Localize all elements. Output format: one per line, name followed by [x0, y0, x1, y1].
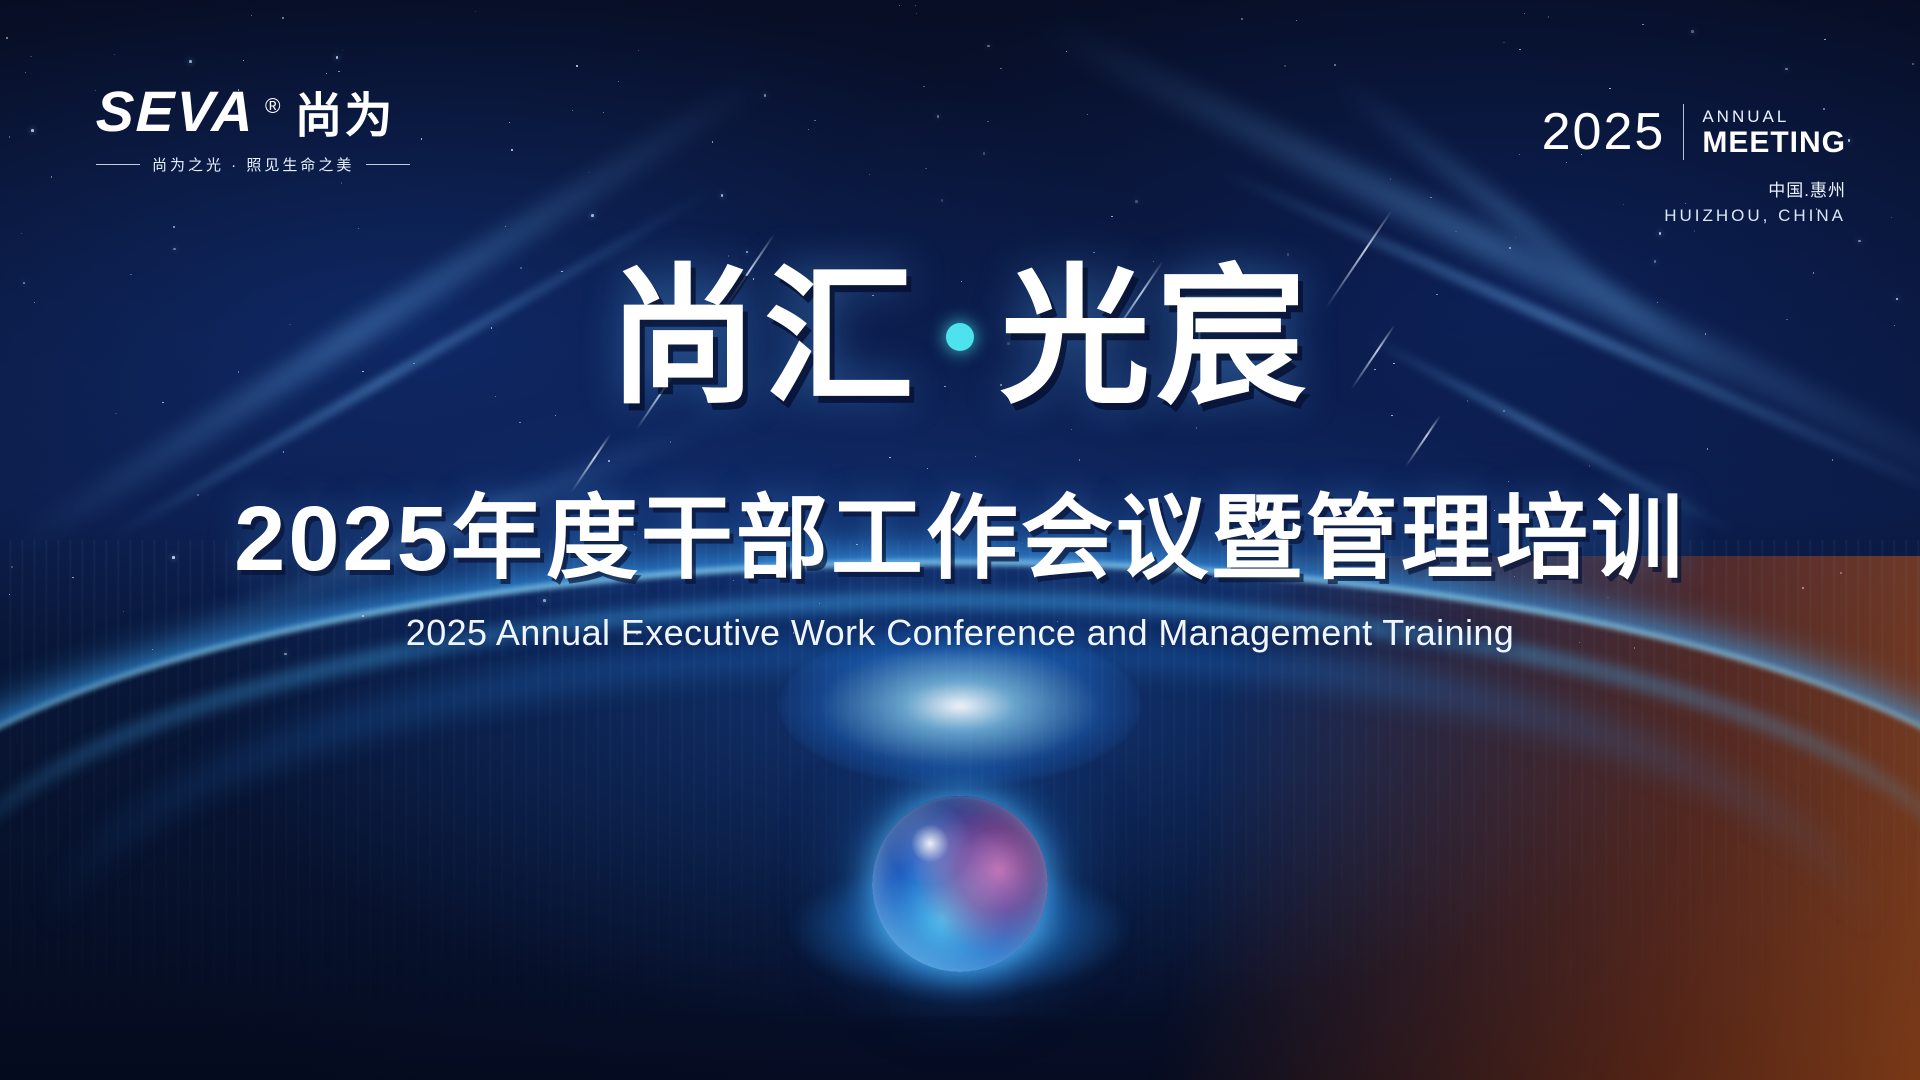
- star: [618, 81, 619, 82]
- star: [509, 122, 510, 123]
- brand-wordmark: SEVA: [95, 84, 256, 141]
- star: [1455, 231, 1456, 232]
- brand-tagline: 尚为之光 · 照见生命之美: [96, 154, 410, 175]
- star: [475, 11, 476, 12]
- star: [251, 15, 252, 16]
- star: [30, 56, 31, 57]
- meeting-label: MEETING: [1702, 127, 1846, 159]
- star: [572, 110, 573, 111]
- star: [338, 71, 339, 72]
- tagline-rule-right: [366, 164, 410, 165]
- star: [1524, 13, 1525, 14]
- star: [1896, 298, 1899, 301]
- star: [561, 271, 562, 272]
- star: [34, 302, 35, 303]
- star: [1515, 237, 1516, 238]
- star: [173, 248, 176, 251]
- meteor-streak: [1350, 324, 1395, 390]
- star: [591, 214, 594, 217]
- star: [1079, 459, 1080, 460]
- star: [1813, 272, 1814, 273]
- star: [31, 129, 34, 132]
- star: [1694, 230, 1695, 231]
- star: [1519, 49, 1520, 50]
- star: [23, 282, 26, 285]
- star: [869, 174, 870, 175]
- star: [975, 456, 976, 457]
- star: [1241, 18, 1242, 19]
- star: [326, 73, 327, 74]
- star: [1642, 24, 1643, 25]
- star: [1087, 114, 1088, 115]
- star: [937, 115, 940, 118]
- star: [358, 228, 359, 229]
- star: [1503, 42, 1504, 43]
- star: [1785, 68, 1788, 71]
- star: [1135, 200, 1138, 203]
- star: [1589, 465, 1590, 466]
- star: [1858, 240, 1861, 243]
- star: [899, 5, 900, 6]
- star: [421, 138, 422, 139]
- star: [1393, 363, 1394, 364]
- star: [1609, 88, 1610, 89]
- star: [925, 168, 926, 169]
- event-meeting-stack: ANNUAL MEETING: [1702, 106, 1846, 159]
- tagline-text: 尚为之光 · 照见生命之美: [152, 154, 354, 175]
- brand-wordmark-cn: 尚为: [294, 93, 394, 141]
- star: [520, 267, 521, 268]
- star: [1296, 20, 1297, 21]
- star: [336, 56, 339, 59]
- star: [1519, 154, 1520, 155]
- star: [511, 149, 512, 150]
- star: [987, 121, 988, 122]
- star: [1503, 410, 1504, 411]
- tagline-rule-left: [96, 164, 140, 165]
- star: [1824, 39, 1825, 40]
- star: [589, 172, 590, 173]
- event-year: 2025: [1542, 106, 1666, 158]
- star: [916, 13, 917, 14]
- brand-logo: SEVA ® 尚为 尚为之光 · 照见生命之美: [96, 84, 410, 175]
- star: [9, 136, 10, 137]
- meteor-streak: [1405, 415, 1441, 468]
- star: [1436, 294, 1437, 295]
- annual-label: ANNUAL: [1702, 106, 1846, 127]
- subtitle-cn: 2025年度干部工作会议暨管理培训: [234, 490, 1686, 589]
- star: [764, 94, 767, 97]
- main-title-right: 光宸: [1000, 262, 1312, 412]
- star: [289, 324, 290, 325]
- star: [608, 460, 609, 461]
- star: [1509, 247, 1510, 248]
- star: [519, 422, 520, 423]
- star: [491, 327, 492, 328]
- star: [342, 50, 343, 51]
- registered-trademark-icon: ®: [265, 95, 280, 119]
- star: [173, 226, 174, 227]
- meta-divider: [1683, 104, 1684, 160]
- star: [238, 371, 239, 372]
- star: [283, 451, 284, 452]
- star: [1467, 400, 1468, 401]
- star: [243, 60, 244, 61]
- subtitle-en: 2025 Annual Executive Work Conference an…: [406, 612, 1514, 654]
- star: [638, 50, 639, 51]
- star: [130, 274, 131, 275]
- star: [1832, 459, 1833, 460]
- star: [1066, 51, 1067, 52]
- star: [1508, 481, 1509, 482]
- star: [1912, 63, 1913, 64]
- star: [114, 54, 115, 55]
- star: [927, 468, 928, 469]
- star: [197, 494, 198, 495]
- star: [808, 129, 809, 130]
- star: [941, 199, 944, 202]
- star: [1334, 64, 1335, 65]
- star: [362, 371, 363, 372]
- star: [21, 233, 22, 234]
- star: [1657, 302, 1658, 303]
- star: [1390, 178, 1391, 179]
- star: [1848, 139, 1851, 142]
- star: [115, 413, 116, 414]
- event-meta-top: 2025 ANNUAL MEETING: [1542, 104, 1846, 160]
- star: [670, 441, 671, 442]
- star: [413, 363, 414, 364]
- star: [162, 402, 163, 403]
- star: [51, 176, 52, 177]
- star: [1374, 369, 1375, 370]
- star: [1786, 319, 1787, 320]
- star: [987, 45, 990, 48]
- star: [1284, 65, 1285, 66]
- star: [282, 17, 283, 18]
- star: [1891, 217, 1892, 218]
- star: [1705, 333, 1706, 334]
- star: [576, 65, 577, 66]
- conference-key-visual: SEVA ® 尚为 尚为之光 · 照见生命之美 2025 ANNUAL MEET…: [0, 0, 1920, 1080]
- star: [1430, 197, 1431, 198]
- star: [495, 396, 496, 397]
- star: [915, 5, 916, 6]
- event-location-cn: 中国.惠州: [1542, 176, 1846, 201]
- star: [555, 415, 556, 416]
- star: [1707, 448, 1708, 449]
- star: [1391, 415, 1392, 416]
- star: [6, 37, 7, 38]
- star: [1894, 325, 1895, 326]
- star: [1691, 30, 1694, 33]
- main-title-left: 尚汇: [608, 262, 920, 412]
- brand-logo-row: SEVA ® 尚为: [96, 84, 410, 141]
- event-location-en: HUIZHOU, CHINA: [1542, 206, 1846, 226]
- star: [505, 226, 506, 227]
- star: [1659, 232, 1662, 235]
- star: [983, 152, 986, 155]
- star: [603, 112, 604, 113]
- star: [1196, 427, 1197, 428]
- star: [1111, 216, 1112, 217]
- star: [1000, 68, 1001, 69]
- main-title: 尚汇 光宸: [608, 262, 1312, 412]
- star: [25, 72, 26, 73]
- star: [189, 60, 192, 63]
- star: [721, 194, 724, 197]
- meteor-streak: [571, 433, 612, 492]
- star: [889, 457, 890, 458]
- star: [1071, 429, 1072, 430]
- meteor-streak: [1325, 210, 1393, 309]
- cyan-dot-icon: [946, 323, 974, 351]
- star: [712, 141, 713, 142]
- star: [1548, 16, 1549, 17]
- star: [814, 120, 815, 121]
- star: [923, 86, 924, 87]
- star: [341, 182, 342, 183]
- event-meta: 2025 ANNUAL MEETING 中国.惠州 HUIZHOU, CHINA: [1542, 104, 1846, 226]
- star: [1654, 260, 1657, 263]
- glass-sphere: [872, 796, 1048, 972]
